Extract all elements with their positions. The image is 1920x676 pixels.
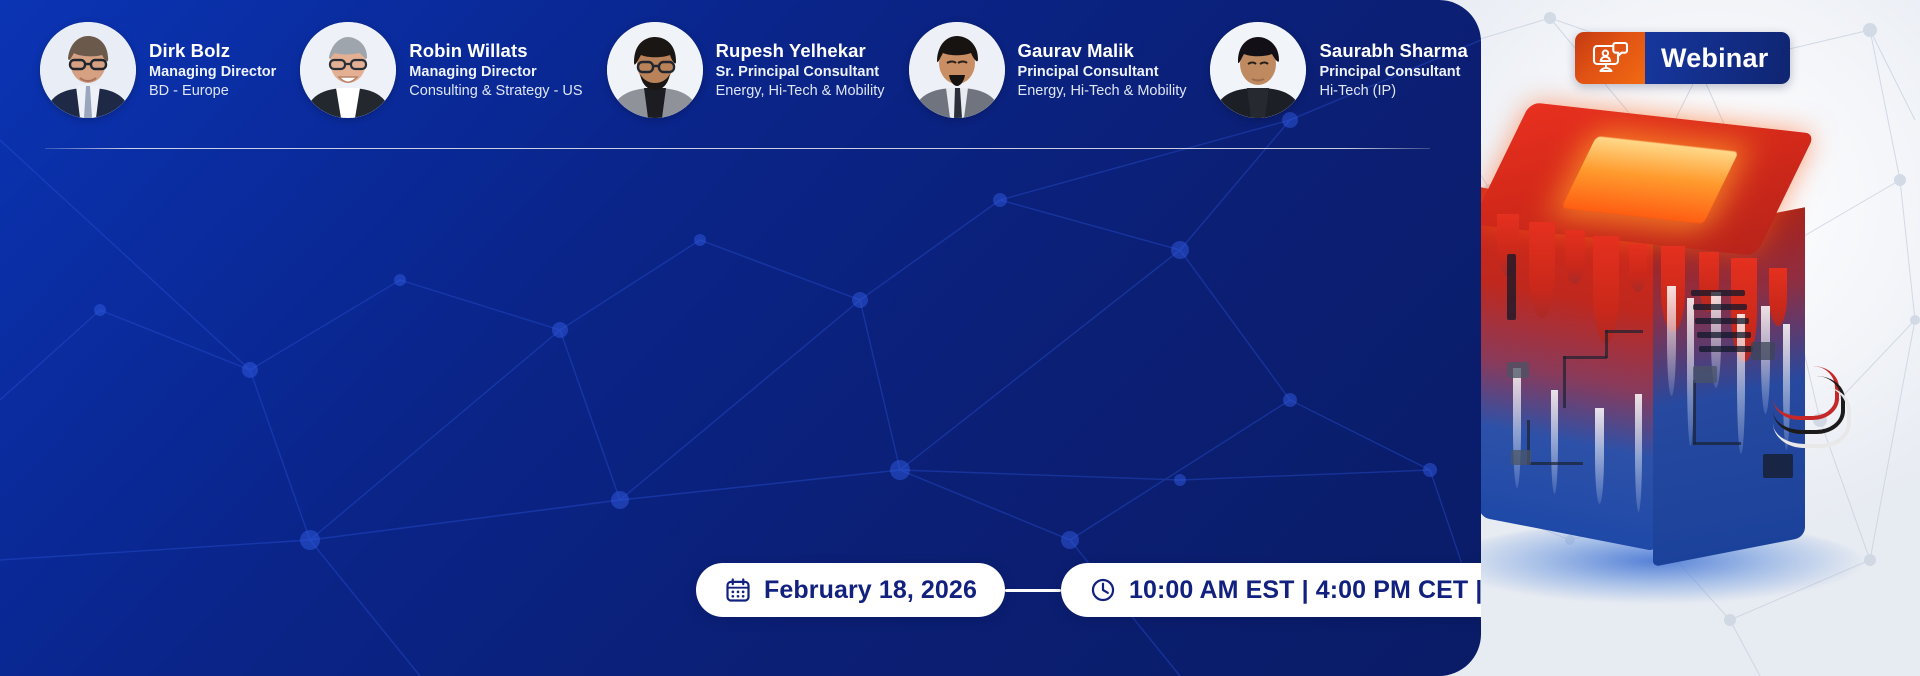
webinar-banner: Dirk Bolz Managing Director BD - Europe [0, 0, 1920, 676]
speaker-name: Dirk Bolz [149, 40, 276, 62]
webinar-badge[interactable]: Webinar [1575, 32, 1790, 84]
clock-icon [1089, 576, 1117, 604]
avatar [909, 22, 1005, 118]
speaker-photo-icon [607, 22, 703, 118]
speaker-name: Saurabh Sharma [1319, 40, 1467, 62]
speaker-card: Robin Willats Managing Director Consulti… [300, 22, 582, 118]
speaker-details: Gaurav Malik Principal Consultant Energy… [1018, 40, 1187, 101]
speaker-department: Hi-Tech (IP) [1319, 83, 1467, 100]
date-pill[interactable]: February 18, 2026 [696, 563, 1005, 617]
pill-connector [1005, 589, 1061, 592]
speaker-card: Saurabh Sharma Principal Consultant Hi-T… [1210, 22, 1467, 118]
speaker-name: Gaurav Malik [1018, 40, 1187, 62]
header-divider [45, 148, 1430, 149]
webinar-badge-label: Webinar [1645, 32, 1790, 84]
avatar [607, 22, 703, 118]
battery-module-artwork [1455, 118, 1855, 588]
date-text: February 18, 2026 [764, 576, 977, 605]
blue-content-panel: Dirk Bolz Managing Director BD - Europe [0, 0, 1481, 676]
speaker-photo-icon [909, 22, 1005, 118]
speaker-details: Robin Willats Managing Director Consulti… [409, 40, 582, 101]
webinar-badge-icon-area [1575, 32, 1645, 84]
speaker-details: Saurabh Sharma Principal Consultant Hi-T… [1319, 40, 1467, 101]
speaker-department: Energy, Hi-Tech & Mobility [716, 83, 885, 100]
avatar [300, 22, 396, 118]
speaker-photo-icon [1210, 22, 1306, 118]
speaker-photo-icon [300, 22, 396, 118]
calendar-icon [724, 576, 752, 604]
speaker-department: Energy, Hi-Tech & Mobility [1018, 83, 1187, 100]
speaker-card: Rupesh Yelhekar Sr. Principal Consultant… [607, 22, 885, 118]
speaker-role: Managing Director [149, 64, 276, 81]
speaker-details: Rupesh Yelhekar Sr. Principal Consultant… [716, 40, 885, 101]
speaker-details: Dirk Bolz Managing Director BD - Europe [149, 40, 276, 101]
speaker-role: Principal Consultant [1319, 64, 1467, 81]
speaker-name: Robin Willats [409, 40, 582, 62]
speakers-row: Dirk Bolz Managing Director BD - Europe [40, 22, 1481, 118]
avatar [40, 22, 136, 118]
speaker-name: Rupesh Yelhekar [716, 40, 885, 62]
speaker-department: BD - Europe [149, 83, 276, 100]
speaker-role: Managing Director [409, 64, 582, 81]
time-pill[interactable]: 10:00 AM EST | 4:00 PM CET | 8:30 PM IST [1061, 563, 1481, 617]
time-text: 10:00 AM EST | 4:00 PM CET | 8:30 PM IST [1129, 576, 1481, 605]
schedule-pills: February 18, 2026 10:00 AM EST | 4:00 PM… [696, 563, 1481, 617]
webinar-monitor-person-icon [1592, 41, 1628, 75]
speaker-department: Consulting & Strategy - US [409, 83, 582, 100]
speaker-card: Dirk Bolz Managing Director BD - Europe [40, 22, 276, 118]
avatar [1210, 22, 1306, 118]
speaker-role: Principal Consultant [1018, 64, 1187, 81]
speaker-card: Gaurav Malik Principal Consultant Energy… [909, 22, 1187, 118]
speaker-photo-icon [40, 22, 136, 118]
speaker-role: Sr. Principal Consultant [716, 64, 885, 81]
